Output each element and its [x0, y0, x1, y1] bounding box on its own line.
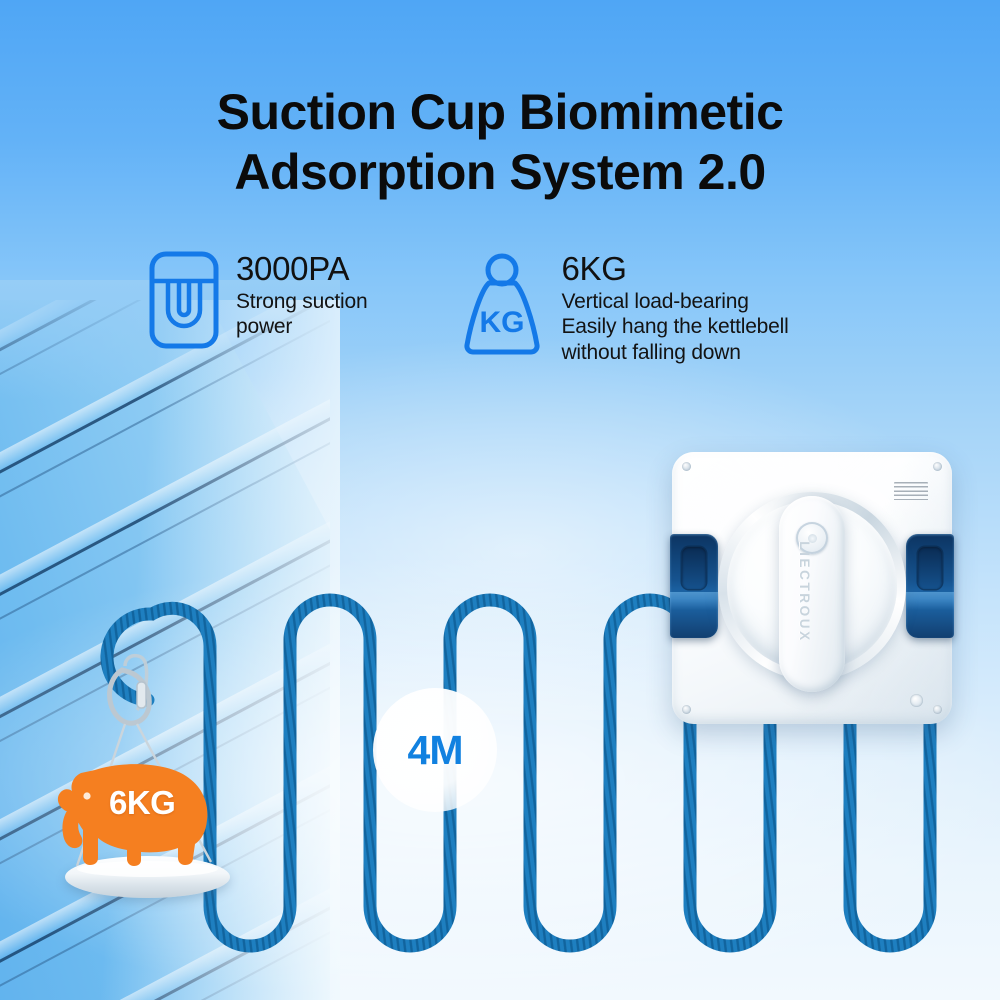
robot-track-right: [906, 534, 954, 638]
weight-demo-scale: 6KG: [25, 648, 255, 908]
corner-screw-icon: [682, 705, 691, 714]
cable-length-value: 4M: [408, 727, 463, 774]
brand-logo-text: LIECTROUX: [797, 541, 812, 642]
corner-screw-icon: [933, 462, 942, 471]
corner-screw-icon: [682, 462, 691, 471]
cable-length-badge: 4M: [373, 688, 497, 812]
window-cleaning-robot: LIECTROUX: [672, 452, 952, 724]
cable-anchor-point: [910, 694, 923, 707]
corner-screw-icon: [933, 705, 942, 714]
spec-sticker-label: [894, 482, 928, 503]
robot-track-left: [670, 534, 718, 638]
scale-weight-label: 6KG: [109, 784, 175, 822]
robot-handle: LIECTROUX: [779, 496, 845, 692]
product-infographic: Suction Cup Biomimetic Adsorption System…: [0, 0, 1000, 1000]
